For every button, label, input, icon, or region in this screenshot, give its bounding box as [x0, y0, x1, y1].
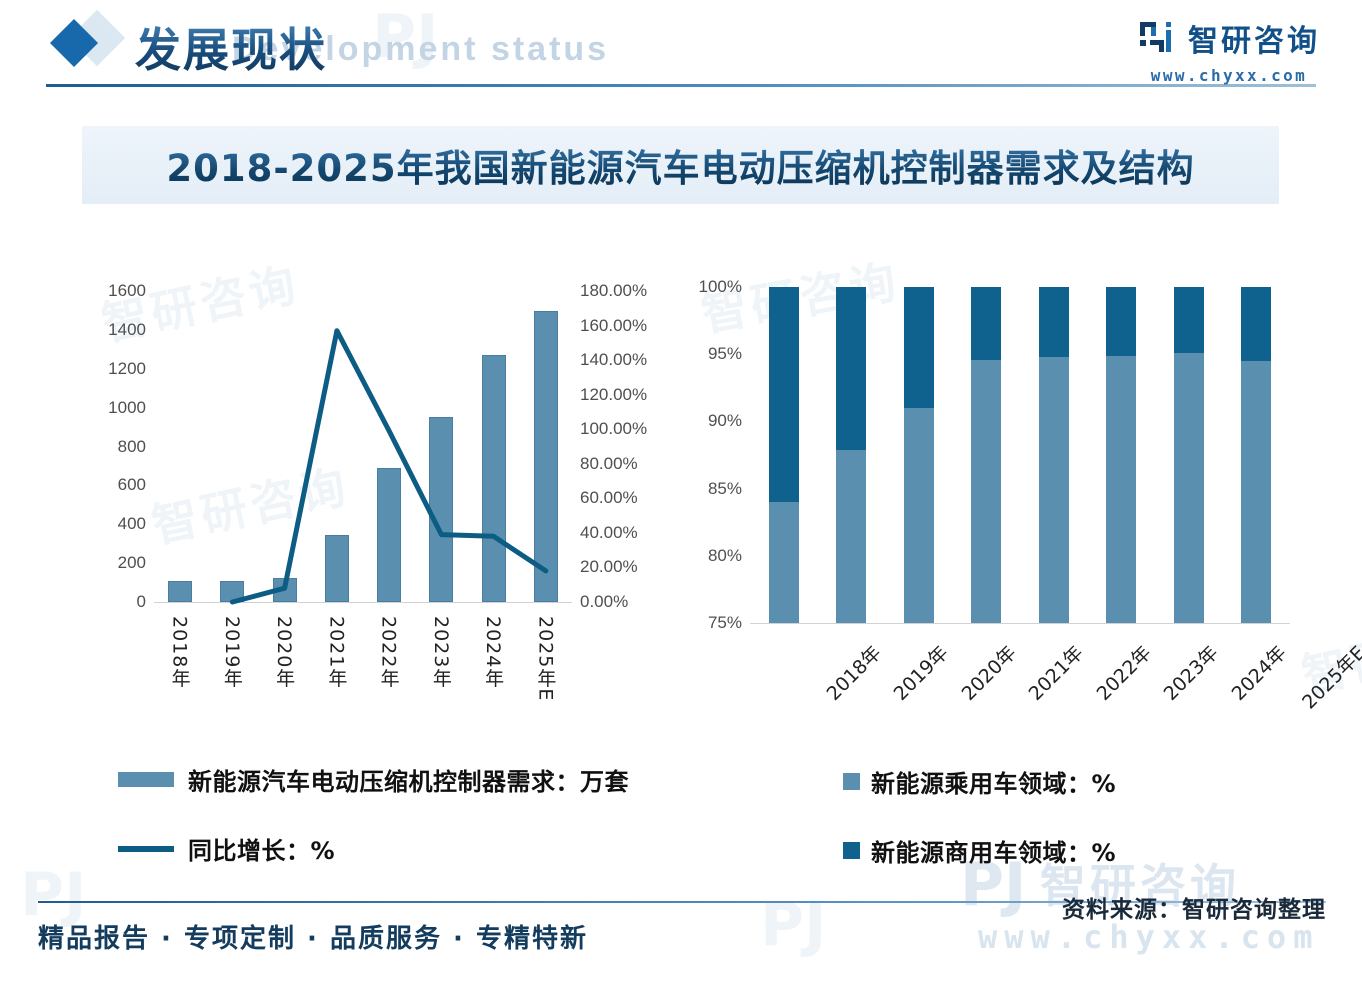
bar-demand — [168, 581, 192, 602]
bar-demand — [220, 581, 244, 602]
demand-chart: 020040060080010001200140016000.00%20.00%… — [62, 270, 692, 740]
legend-label: 新能源汽车电动压缩机控制器需求：万套 — [188, 762, 629, 797]
axis-label-x: 2020年 — [954, 639, 1021, 706]
bar-commercial-share — [971, 287, 1001, 360]
bar-demand — [273, 578, 297, 602]
header-divider — [46, 84, 1316, 87]
bar-passenger-share — [1174, 353, 1204, 623]
axis-baseline — [750, 623, 1290, 624]
legend-item[interactable]: 新能源乘用车领域：% — [843, 764, 1116, 799]
axis-label-x: 2024年 — [480, 616, 507, 688]
legend-swatch-passenger-icon — [843, 773, 860, 790]
axis-tick-left: 90% — [674, 411, 742, 431]
source-note: 资料来源：智研咨询整理 — [1062, 890, 1326, 924]
axis-tick-left: 1200 — [70, 359, 146, 379]
axis-label-x: 2021年 — [1022, 639, 1089, 706]
axis-tick-left: 1400 — [70, 320, 146, 340]
bar-demand — [377, 468, 401, 602]
axis-tick-left: 1000 — [70, 398, 146, 418]
axis-tick-left: 1600 — [70, 281, 146, 301]
axis-label-x: 2020年 — [271, 616, 298, 688]
bar-demand — [482, 355, 506, 602]
logo-url: www.chyxx.com — [1138, 66, 1320, 85]
bar-commercial-share — [1106, 287, 1136, 356]
axis-tick-left: 85% — [674, 479, 742, 499]
bar-passenger-share — [836, 450, 866, 623]
axis-tick-left: 80% — [674, 546, 742, 566]
chart-title: 2018-2025年我国新能源汽车电动压缩机控制器需求及结构 — [166, 138, 1194, 192]
legend-item[interactable]: 同比增长：% — [118, 831, 629, 866]
bar-passenger-share — [769, 502, 799, 623]
brand-logo[interactable]: 智研咨询 www.chyxx.com — [1138, 16, 1320, 85]
axis-tick-left: 0 — [70, 592, 146, 612]
legend-swatch-line-icon — [118, 846, 174, 852]
chyxx-logo-icon — [1138, 18, 1178, 58]
bar-demand — [534, 311, 558, 602]
axis-label-x: 2023年 — [428, 616, 455, 688]
axis-label-x: 2023年 — [1157, 639, 1224, 706]
axis-label-x: 2021年 — [323, 616, 350, 688]
legend-label: 新能源乘用车领域：% — [871, 764, 1116, 799]
bar-commercial-share — [836, 287, 866, 450]
bar-passenger-share — [1106, 356, 1136, 623]
axis-tick-left: 200 — [70, 553, 146, 573]
bar-commercial-share — [1174, 287, 1204, 353]
axis-label-x: 2022年 — [376, 616, 403, 688]
page-title: 发展现状 — [135, 14, 327, 80]
legend-label: 新能源商用车领域：% — [871, 833, 1116, 868]
bar-commercial-share — [904, 287, 934, 408]
structure-chart: 75%80%85%90%95%100%2018年2019年2020年2021年2… — [672, 270, 1312, 740]
axis-tick-left: 400 — [70, 514, 146, 534]
demand-plot-area: 020040060080010001200140016000.00%20.00%… — [62, 270, 692, 740]
bar-demand — [325, 535, 349, 602]
axis-label-x: 2022年 — [1089, 639, 1156, 706]
axis-tick-left: 75% — [674, 613, 742, 633]
axis-label-x: 2025年E — [1295, 639, 1362, 714]
legend-swatch-commercial-icon — [843, 842, 860, 859]
axis-label-x: 2025年E — [532, 616, 559, 701]
structure-chart-legend: 新能源乘用车领域：% 新能源商用车领域：% — [843, 764, 1116, 902]
page-header: Development status 发展现状 智研咨询 www.chyxx.c… — [0, 0, 1362, 104]
bar-demand — [429, 417, 453, 602]
axis-tick-left: 600 — [70, 475, 146, 495]
legend-item[interactable]: 新能源商用车领域：% — [843, 833, 1116, 868]
legend-label: 同比增长：% — [188, 831, 335, 866]
axis-tick-left: 100% — [674, 277, 742, 297]
axis-baseline — [154, 602, 572, 603]
bar-passenger-share — [904, 408, 934, 623]
axis-label-x: 2024年 — [1224, 639, 1291, 706]
bar-commercial-share — [1241, 287, 1271, 361]
logo-name: 智研咨询 — [1188, 16, 1320, 60]
axis-tick-left: 800 — [70, 437, 146, 457]
bar-passenger-share — [1241, 361, 1271, 623]
legend-swatch-bar-icon — [118, 772, 174, 787]
bar-passenger-share — [971, 360, 1001, 623]
axis-label-x: 2019年 — [219, 616, 246, 688]
footer-tagline: 精品报告 · 专项定制 · 品质服务 · 专精特新 — [38, 918, 588, 955]
chart-title-band: 2018-2025年我国新能源汽车电动压缩机控制器需求及结构 — [82, 126, 1279, 204]
demand-chart-legend: 新能源汽车电动压缩机控制器需求：万套 同比增长：% — [118, 762, 629, 900]
bar-commercial-share — [769, 287, 799, 502]
legend-item[interactable]: 新能源汽车电动压缩机控制器需求：万套 — [118, 762, 629, 797]
structure-plot-area: 75%80%85%90%95%100%2018年2019年2020年2021年2… — [672, 270, 1312, 740]
axis-label-x: 2018年 — [819, 639, 886, 706]
axis-label-x: 2019年 — [887, 639, 954, 706]
axis-label-x: 2018年 — [167, 616, 194, 688]
axis-tick-left: 95% — [674, 344, 742, 364]
bar-commercial-share — [1039, 287, 1069, 357]
bar-passenger-share — [1039, 357, 1069, 623]
